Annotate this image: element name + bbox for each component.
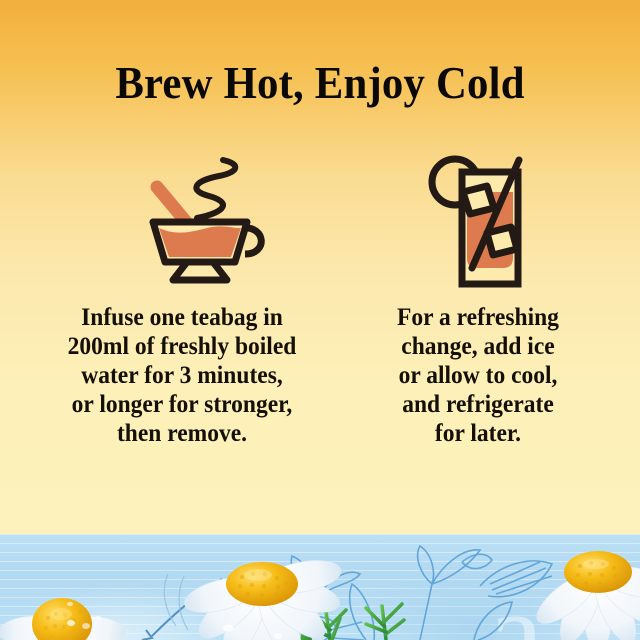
instruction-line: or allow to cool, — [365, 361, 591, 390]
icon-row — [0, 150, 640, 295]
poster-root: Brew Hot, Enjoy Cold — [0, 0, 640, 640]
instruction-line: then remove. — [32, 419, 333, 448]
floral-artwork — [0, 534, 640, 640]
instruction-line: 200ml of freshly boiled — [32, 332, 333, 361]
instruction-line: and refrigerate — [365, 390, 591, 419]
instruction-line: change, add ice — [365, 332, 591, 361]
instruction-text-hot: Infuse one teabag in 200ml of freshly bo… — [32, 303, 333, 448]
instruction-line: or longer for stronger, — [32, 390, 333, 419]
instruction-text-cold: For a refreshing change, add ice or allo… — [365, 303, 591, 448]
footer-floral-band: a — [0, 534, 640, 640]
instruction-columns: Infuse one teabag in 200ml of freshly bo… — [0, 303, 640, 463]
page-title: Brew Hot, Enjoy Cold — [22, 57, 617, 109]
instruction-line: water for 3 minutes, — [32, 361, 333, 390]
instruction-line: For a refreshing — [365, 303, 591, 332]
iced-drink-glass-icon — [380, 150, 580, 295]
hot-teacup-icon — [100, 150, 320, 295]
instruction-line: Infuse one teabag in — [32, 303, 333, 332]
instruction-line: for later. — [365, 419, 591, 448]
